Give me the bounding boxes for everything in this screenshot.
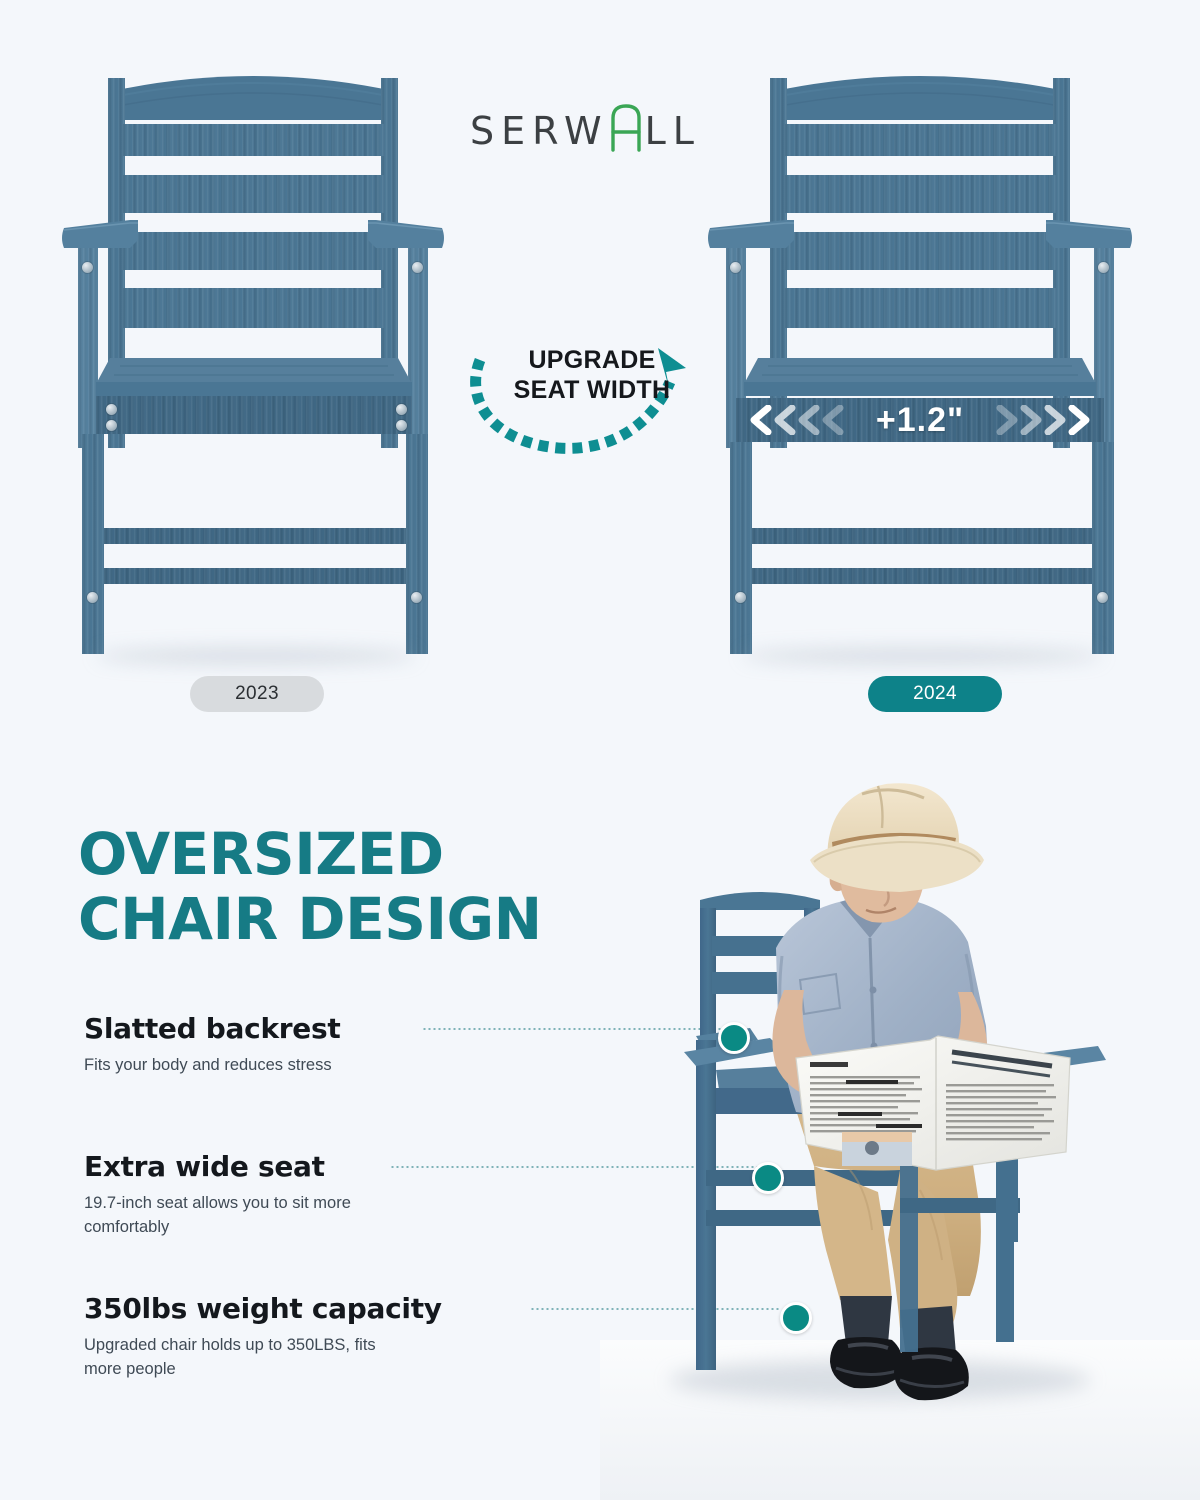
chair2024-stretcher-upper xyxy=(752,528,1092,544)
brand-logo: SERW LL xyxy=(470,104,701,150)
year-badge-2024: 2024 xyxy=(868,676,1002,712)
seat-width-gain-band: +1.2" xyxy=(736,398,1104,442)
chevron-left-icon xyxy=(746,405,858,435)
chair2023-back-slat-3 xyxy=(122,232,384,270)
man-on-chair-scene xyxy=(600,740,1200,1500)
chair2023-screw-2 xyxy=(412,262,423,273)
callout-line-1: UPGRADE xyxy=(492,346,692,376)
benefits-section: OVERSIZED CHAIR DESIGN Slatted backrest … xyxy=(0,740,1200,1500)
chair2023-back-slat-2 xyxy=(122,175,384,213)
chair2023-seat-apron xyxy=(96,396,412,434)
feature-weight-capacity: 350lbs weight capacity Upgraded chair ho… xyxy=(84,1292,442,1382)
year-badge-2023-label: 2023 xyxy=(235,683,279,705)
comparison-section: SERW LL xyxy=(0,0,1200,740)
chair2024-screw-3 xyxy=(735,592,746,603)
chair2023-screw-6 xyxy=(396,420,407,431)
feature-description: Upgraded chair holds up to 350LBS, fits … xyxy=(84,1334,414,1382)
feature-description: 19.7-inch seat allows you to sit more co… xyxy=(84,1192,414,1240)
chair2024-shadow xyxy=(742,648,1102,664)
newspaper xyxy=(796,1036,1070,1170)
headline-line-2: CHAIR DESIGN xyxy=(78,887,542,952)
year-badge-2023: 2023 xyxy=(190,676,324,712)
headline-line-1: OVERSIZED xyxy=(78,822,542,887)
chair2024-leg-front-left xyxy=(730,442,752,654)
chair2023-shadow xyxy=(96,648,416,664)
chair2023-arm-support-left xyxy=(78,248,98,448)
feature-marker-capacity[interactable] xyxy=(780,1302,812,1334)
brand-chair-a-icon xyxy=(609,106,643,150)
feature-slatted-backrest: Slatted backrest Fits your body and redu… xyxy=(84,1012,340,1078)
fedora-hat xyxy=(810,783,984,892)
brand-name-pre: SERW xyxy=(470,112,609,150)
chevrons-right-group xyxy=(982,405,1094,435)
chair2023-screw-4 xyxy=(106,420,117,431)
page-title: OVERSIZED CHAIR DESIGN xyxy=(78,822,542,952)
seat-width-gain-label: +1.2" xyxy=(876,401,964,440)
chair2024-back-slat-3 xyxy=(784,232,1056,270)
callout-line-2: SEAT WIDTH xyxy=(492,376,692,406)
chair2023-screw-1 xyxy=(82,262,93,273)
chair2024-back-slat-2 xyxy=(784,175,1056,213)
infographic-page: SERW LL xyxy=(0,0,1200,1500)
chair2023-screw-8 xyxy=(411,592,422,603)
feature-title: Extra wide seat xyxy=(84,1150,414,1183)
chair2024-crest-rail xyxy=(770,58,1070,124)
chair2023-stretcher-upper xyxy=(104,528,406,544)
chair2024-back-slat-4 xyxy=(784,288,1056,328)
chevron-right-icon xyxy=(982,405,1094,435)
feature-extra-wide-seat: Extra wide seat 19.7-inch seat allows yo… xyxy=(84,1150,414,1240)
chair2023-screw-7 xyxy=(87,592,98,603)
chair2023-armrest-right xyxy=(368,218,446,252)
feature-title: Slatted backrest xyxy=(84,1012,340,1045)
feature-description: Fits your body and reduces stress xyxy=(84,1054,340,1078)
brand-name-post: LL xyxy=(645,112,701,150)
chair2023-stretcher-lower xyxy=(104,568,406,584)
chair2023-armrest-left xyxy=(60,218,138,252)
chevrons-left-group xyxy=(746,405,858,435)
lifestyle-photo xyxy=(600,740,1200,1500)
chair2023-screw-5 xyxy=(396,404,407,415)
chair2024-armrest-left xyxy=(706,218,794,252)
upgrade-callout: UPGRADE SEAT WIDTH xyxy=(462,338,702,458)
chair2023-back-slat-4 xyxy=(122,288,384,328)
chair2023-back-slat-1 xyxy=(122,124,384,156)
feature-marker-backrest[interactable] xyxy=(718,1022,750,1054)
chair2023-leg-front-right xyxy=(406,434,428,654)
feature-marker-seat[interactable] xyxy=(752,1162,784,1194)
chair2024-screw-1 xyxy=(730,262,741,273)
upgrade-callout-text: UPGRADE SEAT WIDTH xyxy=(492,346,692,405)
chair2024-armrest-right xyxy=(1046,218,1134,252)
chair2024-screw-2 xyxy=(1098,262,1109,273)
feature-title: 350lbs weight capacity xyxy=(84,1292,442,1325)
chair2024-leg-front-right xyxy=(1092,442,1114,654)
chair2023-crest-rail xyxy=(108,58,398,124)
chair2024-stretcher-lower xyxy=(752,568,1092,584)
chair2024-back-slat-1 xyxy=(784,124,1056,156)
chair2024-screw-4 xyxy=(1097,592,1108,603)
chair2023-screw-3 xyxy=(106,404,117,415)
chair2023-leg-front-left xyxy=(82,434,104,654)
year-badge-2024-label: 2024 xyxy=(913,683,957,705)
